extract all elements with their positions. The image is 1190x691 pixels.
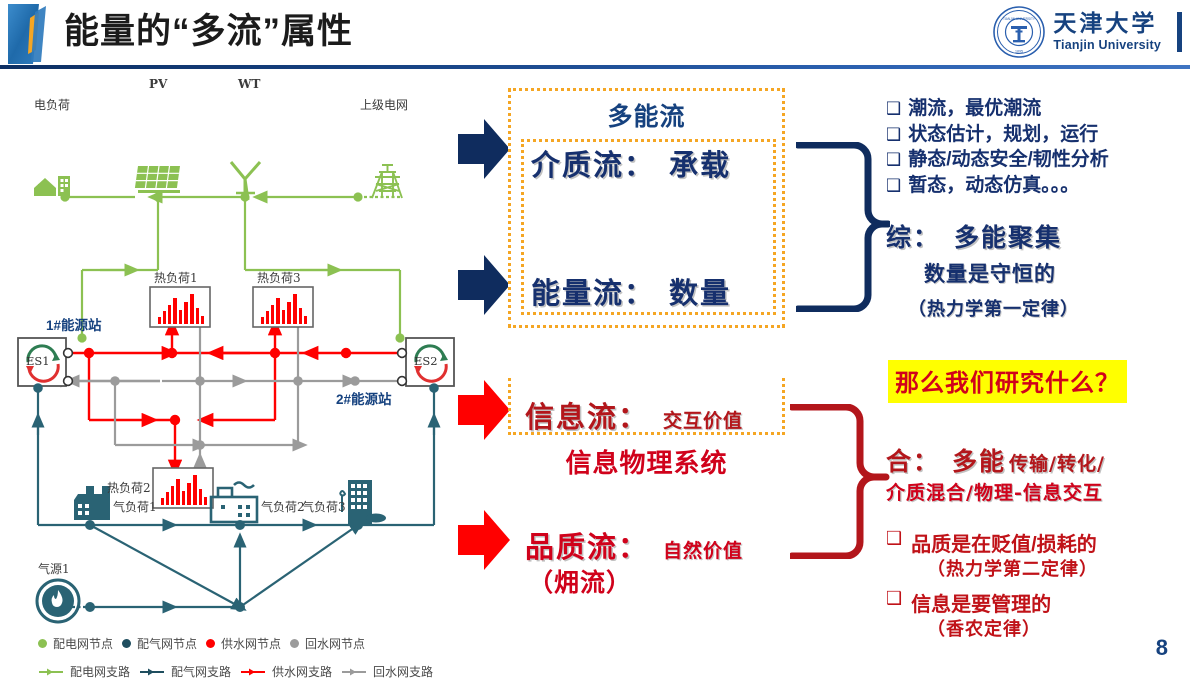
cyber-physical-system-label: 信息物理系统 <box>508 443 785 480</box>
research-question-text: 那么我们研究什么？ <box>895 370 1120 397</box>
shannon-law-label: （香农定律） <box>927 615 1041 641</box>
label-heat-load-2: 热负荷2 <box>107 479 151 496</box>
label-upper-grid: 上级电网 <box>360 96 408 113</box>
page-number: 8 <box>1156 635 1168 661</box>
svg-text:TIANJIN UNIVERSITY: TIANJIN UNIVERSITY <box>1003 17 1036 21</box>
synthesis-value: 多能聚集 <box>954 223 1062 252</box>
bottom-bullet-label: 品质是在贬值/损耗的 <box>911 528 1097 557</box>
bullet-item: ❑状态估计，规划，运行 <box>886 122 1109 148</box>
bullet-item: ❑潮流，最优潮流 <box>886 96 1109 122</box>
combine-rest: 传输/转化/ <box>1009 449 1105 476</box>
info-flow-value: 交互价值 <box>663 406 743 433</box>
legend-label: 配电网支路 <box>70 663 130 680</box>
node-dot-icon <box>290 639 299 648</box>
first-law-label: （热力学第一定律） <box>908 295 1079 321</box>
synthesis-label: 综： <box>886 223 940 252</box>
label-heat-load-3: 热负荷3 <box>257 269 301 286</box>
label-heat-load-1: 热负荷1 <box>154 269 198 286</box>
navy-right-arrow-icon <box>458 253 510 317</box>
energy-flow-row: 能量流： 数量 <box>531 270 731 312</box>
network-topology-svg <box>10 80 465 625</box>
label-gas-load-3: 气负荷3 <box>302 498 346 515</box>
legend-item: 供水网节点 <box>206 635 281 652</box>
research-question-highlight: 那么我们研究什么？ <box>888 360 1127 403</box>
logo-text-en: Tianjin University <box>1053 39 1161 52</box>
analysis-bullet-list: ❑潮流，最优潮流 ❑状态估计，规划，运行 ❑静态/动态安全/韧性分析 ❑暂态，动… <box>886 96 1109 198</box>
checkbox-square-icon: ❑ <box>886 173 901 199</box>
page-title: 能量的“多流”属性 <box>64 6 353 58</box>
legend-label: 供水网节点 <box>221 635 281 652</box>
legend-nodes-row: 配电网节点 配气网节点 供水网节点 回水网节点 <box>38 635 458 652</box>
red-curly-brace-icon <box>790 404 890 559</box>
label-es2: ES2 <box>414 354 438 368</box>
legend-label: 回水网节点 <box>305 635 365 652</box>
bullet-label: 静态/动态安全/韧性分析 <box>908 147 1109 173</box>
diagram-legend: 配电网节点 配气网节点 供水网节点 回水网节点 配电网支路 <box>38 635 458 691</box>
bottom-bullet-item: ❑ 品质是在贬值/损耗的 <box>886 528 1097 557</box>
gas-load-2-icon <box>211 483 257 523</box>
legend-branches-row: 配电网支路 配气网支路 供水网支路 回水网支路 <box>38 663 458 680</box>
label-elec-load: 电负荷 <box>34 96 70 113</box>
legend-label: 配气网支路 <box>171 663 231 680</box>
logo-text-cn: 天津大学 <box>1053 12 1161 35</box>
energy-flow-label: 能量流： <box>531 270 655 312</box>
conservation-label: 数量是守恒的 <box>924 258 1056 288</box>
gas-source-icon <box>37 580 79 622</box>
branch-arrow-icon <box>38 667 64 677</box>
legend-label: 配气网节点 <box>137 635 197 652</box>
bottom-bullet-label: 信息是要管理的 <box>911 588 1051 617</box>
svg-text:1895: 1895 <box>1015 50 1023 54</box>
bullet-label: 潮流，最优潮流 <box>908 96 1041 122</box>
legend-label: 供水网支路 <box>272 663 332 680</box>
legend-label: 配电网节点 <box>53 635 113 652</box>
label-gas-source-1: 气源1 <box>38 560 70 577</box>
slide-root: 能量的“多流”属性 TIANJIN UNIVERSITY 1895 天津大学 T… <box>0 0 1190 669</box>
label-pv: PV <box>149 77 167 91</box>
multi-energy-flow-title: 多能流 <box>508 97 785 133</box>
elec-load-icon <box>34 176 70 196</box>
medium-flow-row: 介质流： 承载 <box>531 142 731 184</box>
combine-label: 合： <box>886 442 940 478</box>
label-gas-load-2: 气负荷2 <box>261 498 305 515</box>
info-flow-label: 信息流： <box>525 394 649 436</box>
checkbox-square-icon: ❑ <box>886 528 902 549</box>
heat-load-1-box <box>150 287 210 327</box>
legend-item: 回水网节点 <box>290 635 365 652</box>
synthesis-row: 综：多能聚集 <box>886 218 1062 254</box>
node-dot-icon <box>206 639 215 648</box>
gas-load-1-icon <box>74 486 110 520</box>
second-law-label: （热力学第二定律） <box>927 555 1098 581</box>
wt-icon <box>231 162 260 200</box>
node-dot-icon <box>122 639 131 648</box>
combine-row-1: 合： 多能 传输/转化/ <box>886 442 1105 478</box>
legend-label: 回水网支路 <box>373 663 433 680</box>
red-right-arrow-icon <box>458 508 510 572</box>
label-gas-load-1: 气负荷1 <box>113 498 157 515</box>
bullet-item: ❑静态/动态安全/韧性分析 <box>886 147 1109 173</box>
legend-item: 供水网支路 <box>240 663 332 680</box>
label-station-2: 2#能源站 <box>336 388 392 408</box>
university-logo: TIANJIN UNIVERSITY 1895 天津大学 Tianjin Uni… <box>993 4 1182 60</box>
quality-flow-value: 自然价值 <box>663 536 743 563</box>
info-flow-row: 信息流： 交互价值 <box>525 394 743 436</box>
legend-item: 配气网节点 <box>122 635 197 652</box>
upper-grid-icon <box>372 165 402 198</box>
medium-flow-value: 承载 <box>669 142 731 184</box>
checkbox-square-icon: ❑ <box>886 96 901 122</box>
quality-flow-label: 品质流： <box>525 524 649 566</box>
heat-load-3-box <box>253 287 313 327</box>
red-right-arrow-icon <box>458 378 510 442</box>
navy-right-arrow-icon <box>458 117 510 181</box>
logo-accent-bar <box>1177 12 1182 52</box>
exergy-flow-label: （㶲流） <box>528 563 632 599</box>
checkbox-square-icon: ❑ <box>886 122 901 148</box>
tianjin-university-seal-icon: TIANJIN UNIVERSITY 1895 <box>993 6 1045 58</box>
bullet-item: ❑暂态，动态仿真。。。 <box>886 173 1109 199</box>
label-wt: WT <box>238 77 260 91</box>
energy-flow-value: 数量 <box>669 270 731 312</box>
gas-load-3-icon <box>340 480 386 524</box>
checkbox-square-icon: ❑ <box>886 147 901 173</box>
legend-item: 回水网支路 <box>341 663 433 680</box>
quality-flow-row: 品质流： 自然价值 <box>525 524 743 566</box>
bullet-label: 状态估计，规划，运行 <box>908 122 1098 148</box>
bottom-bullet-item: ❑ 信息是要管理的 <box>886 588 1051 617</box>
node-dot-icon <box>38 639 47 648</box>
label-es1: ES1 <box>26 354 50 368</box>
blue-slash-logo-mark <box>6 2 52 64</box>
header-divider <box>0 65 1190 69</box>
energy-network-diagram: 电负荷 PV WT 上级电网 热负荷1 热负荷3 热负荷2 1#能源站 2#能源… <box>10 80 465 625</box>
branch-arrow-icon <box>341 667 367 677</box>
heat-load-2-box <box>153 468 213 508</box>
legend-item: 配电网支路 <box>38 663 130 680</box>
legend-item: 配电网节点 <box>38 635 113 652</box>
branch-arrow-icon <box>139 667 165 677</box>
medium-flow-label: 介质流： <box>531 142 655 184</box>
bullet-label: 暂态，动态仿真。。。 <box>908 173 1079 199</box>
branch-arrow-icon <box>240 667 266 677</box>
legend-item: 配气网支路 <box>139 663 231 680</box>
combine-row-2: 介质混合/物理-信息交互 <box>886 478 1103 505</box>
combine-strong: 多能 <box>952 442 1006 478</box>
checkbox-square-icon: ❑ <box>886 588 902 609</box>
navy-curly-brace-icon <box>796 142 890 312</box>
label-station-1: 1#能源站 <box>46 314 102 334</box>
